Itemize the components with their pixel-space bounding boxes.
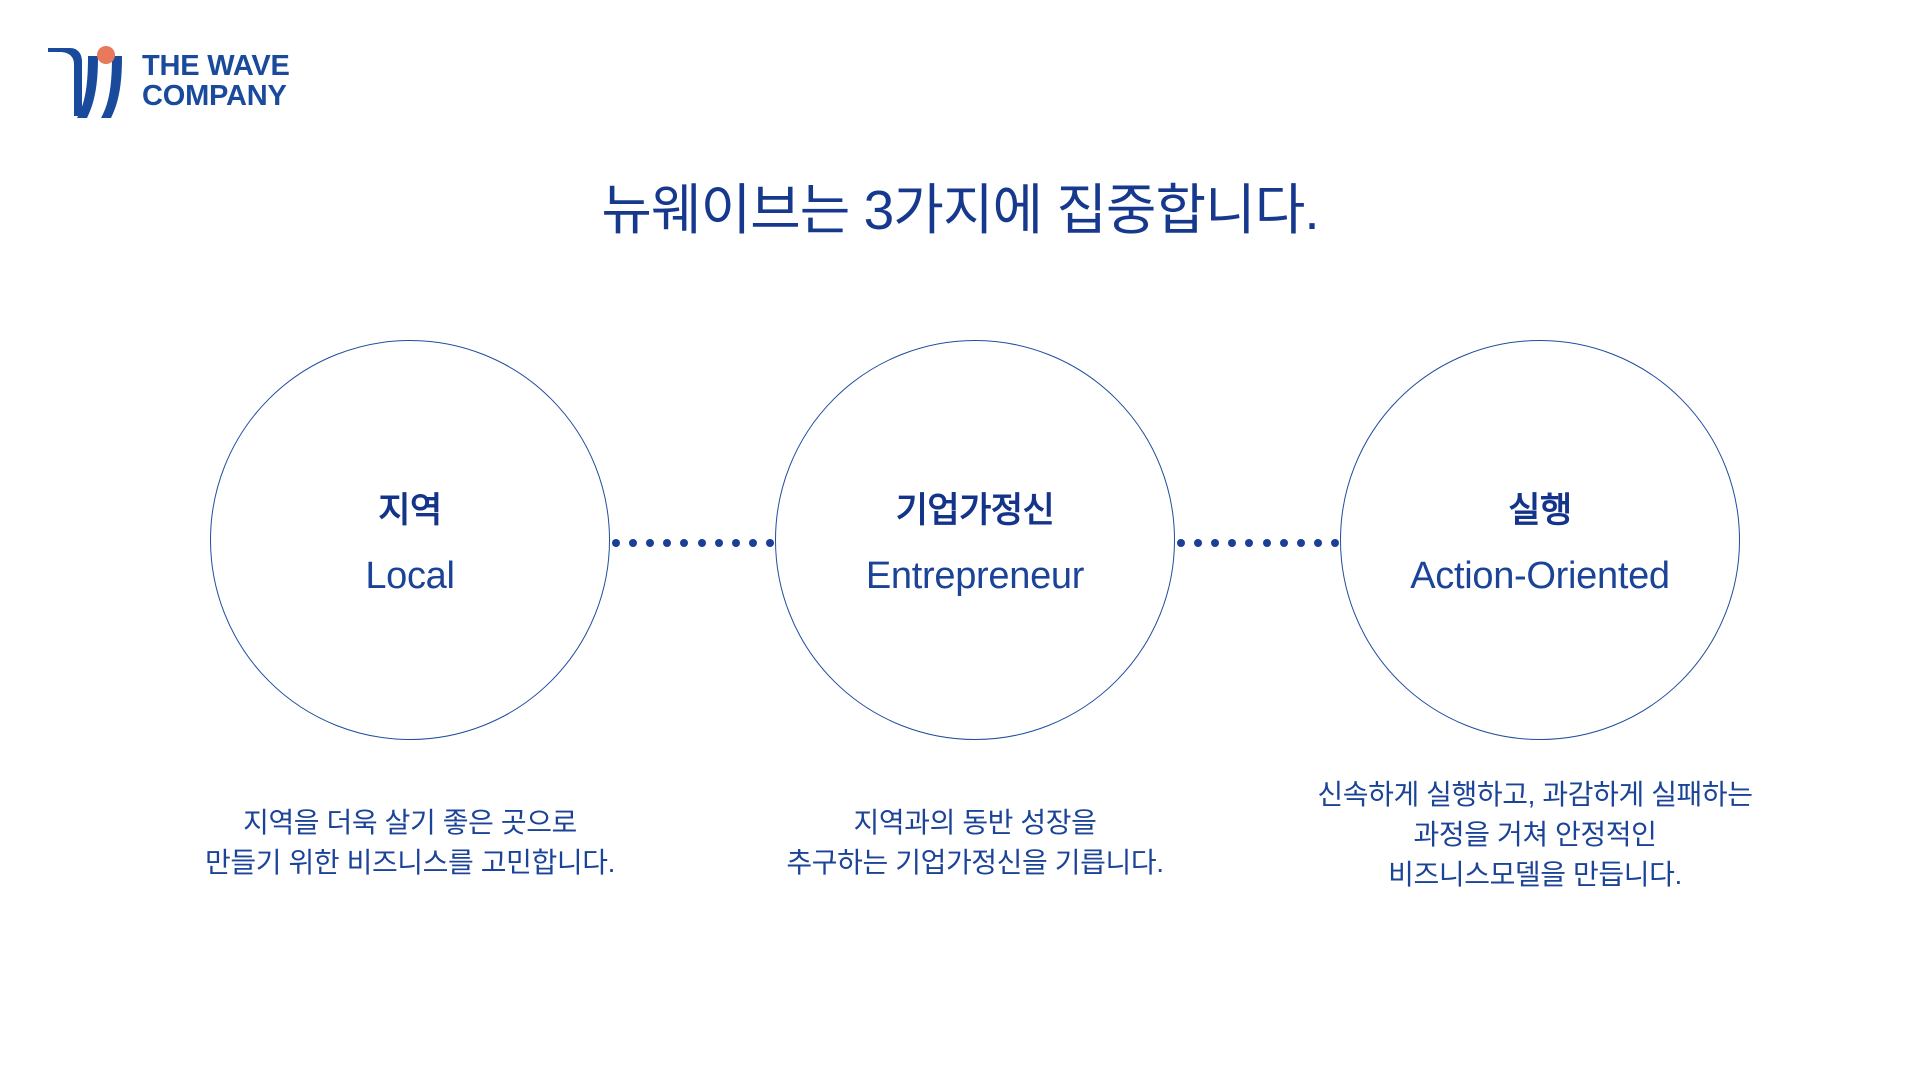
connector-dot: [766, 539, 774, 547]
pillar-subtitle: Local: [365, 555, 454, 598]
connector-dot: [646, 539, 654, 547]
pillar-title: 지역: [378, 482, 441, 533]
connector-dot: [1263, 539, 1271, 547]
connector-dot: [715, 539, 723, 547]
pillar-subtitle: Action-Oriented: [1410, 555, 1670, 598]
dotted-connector-1: [612, 538, 774, 547]
connector-dot: [1280, 539, 1288, 547]
connector-dot: [1331, 539, 1339, 547]
caption-line: 지역을 더욱 살기 좋은 곳으로: [130, 803, 690, 843]
pillar-title: 기업가정신: [896, 482, 1055, 533]
caption-line: 과정을 거쳐 안정적인: [1255, 815, 1815, 855]
connector-dot: [698, 539, 706, 547]
caption-line: 만들기 위한 비즈니스를 고민합니다.: [130, 843, 690, 883]
connector-dot: [1177, 539, 1185, 547]
brand-wordmark: THE WAVE COMPANY: [142, 52, 290, 111]
caption-line: 비즈니스모델을 만듭니다.: [1255, 855, 1815, 895]
wave-mark-icon: [44, 42, 128, 122]
connector-dot: [1228, 539, 1236, 547]
connector-dot: [1297, 539, 1305, 547]
pillar-circle-action-oriented: 실행 Action-Oriented: [1340, 340, 1740, 740]
pillar-title: 실행: [1508, 482, 1571, 533]
connector-dot: [1194, 539, 1202, 547]
connector-dot: [680, 539, 688, 547]
connector-dot: [749, 539, 757, 547]
connector-dot: [663, 539, 671, 547]
connector-dot: [612, 539, 620, 547]
connector-dot: [1211, 539, 1219, 547]
pillar-circle-local: 지역 Local: [210, 340, 610, 740]
pillar-circle-entrepreneur: 기업가정신 Entrepreneur: [775, 340, 1175, 740]
three-pillars-diagram: 지역 Local 기업가정신 Entrepreneur 실행 Action-Or…: [0, 340, 1920, 760]
connector-dot: [732, 539, 740, 547]
caption-line: 지역과의 동반 성장을: [695, 803, 1255, 843]
pillar-caption-local: 지역을 더욱 살기 좋은 곳으로 만들기 위한 비즈니스를 고민합니다.: [130, 803, 690, 883]
page-title: 뉴웨이브는 3가지에 집중합니다.: [0, 165, 1920, 245]
pillar-caption-entrepreneur: 지역과의 동반 성장을 추구하는 기업가정신을 기릅니다.: [695, 803, 1255, 883]
brand-name-line-2: COMPANY: [142, 82, 290, 112]
dotted-connector-2: [1177, 538, 1339, 547]
connector-dot: [1314, 539, 1322, 547]
brand-logo: THE WAVE COMPANY: [44, 42, 290, 122]
connector-dot: [629, 539, 637, 547]
pillar-subtitle: Entrepreneur: [866, 555, 1084, 598]
caption-line: 신속하게 실행하고, 과감하게 실패하는: [1255, 775, 1815, 815]
connector-dot: [1245, 539, 1253, 547]
brand-name-line-1: THE WAVE: [142, 52, 290, 82]
caption-line: 추구하는 기업가정신을 기릅니다.: [695, 843, 1255, 883]
pillar-caption-action-oriented: 신속하게 실행하고, 과감하게 실패하는 과정을 거쳐 안정적인 비즈니스모델을…: [1255, 775, 1815, 894]
